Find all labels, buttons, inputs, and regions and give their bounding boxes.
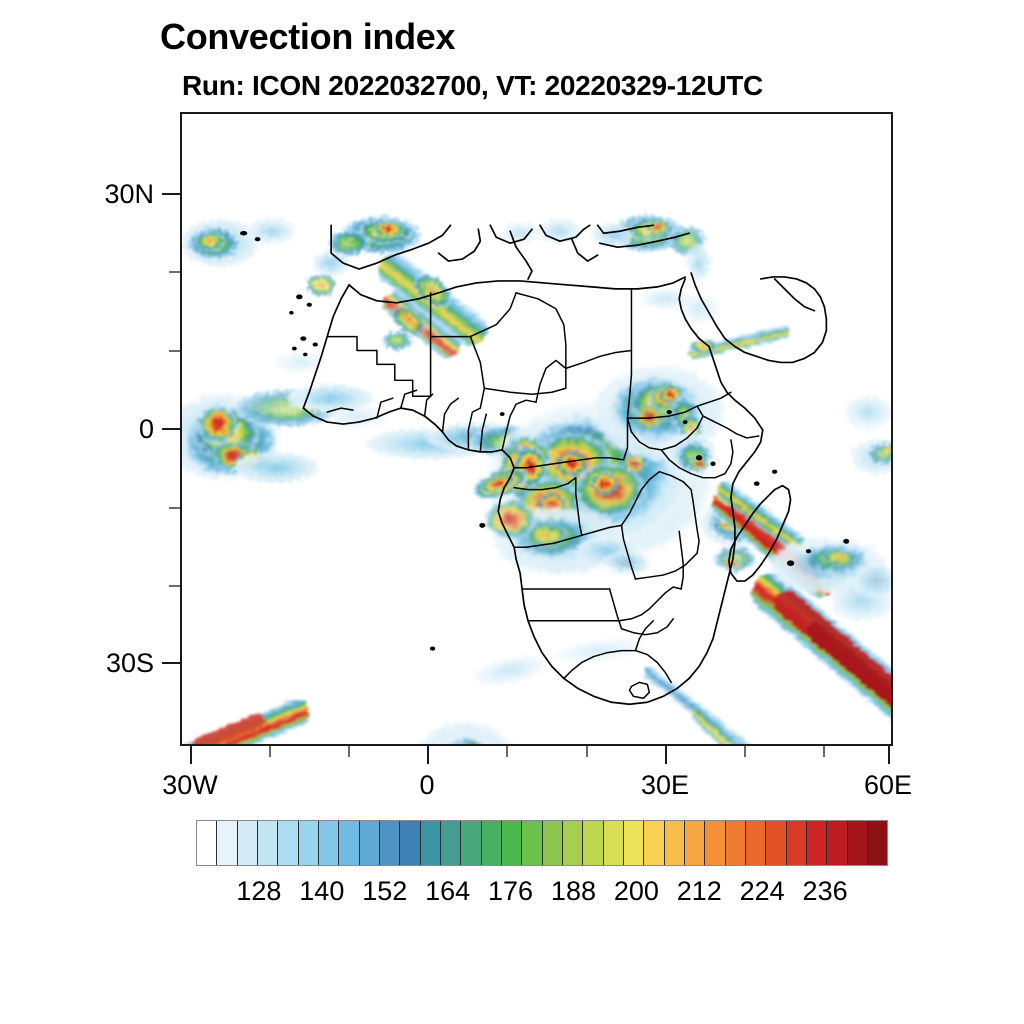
colorbar-cell (197, 821, 217, 865)
colorbar-tick-label: 164 (425, 876, 470, 907)
y-tick-major-30s (162, 662, 180, 664)
colorbar-cells[interactable] (196, 820, 888, 866)
colorbar-cell (644, 821, 664, 865)
x-tick-major-30e (665, 746, 667, 764)
colorbar-cell (380, 821, 400, 865)
colorbar-tick-label: 212 (677, 876, 722, 907)
colorbar-cell (502, 821, 522, 865)
colorbar-cell (441, 821, 461, 865)
x-tick-minor-40e (744, 746, 746, 757)
y-tick-major-30n (162, 193, 180, 195)
y-axis-label-30n: 30N (42, 179, 154, 210)
colorbar-tick-label: 128 (236, 876, 281, 907)
x-tick-minor-10w (348, 746, 350, 757)
x-axis-label-30w: 30W (130, 770, 250, 801)
colorbar-cell (482, 821, 502, 865)
page-title: Convection index (160, 16, 455, 58)
colorbar-cell (685, 821, 705, 865)
x-axis-label-60e: 60E (828, 770, 948, 801)
colorbar-tick-label: 200 (614, 876, 659, 907)
colorbar-cell (583, 821, 603, 865)
colorbar-tick-label: 176 (488, 876, 533, 907)
colorbar-cell (868, 821, 887, 865)
x-axis-label-0: 0 (367, 770, 487, 801)
x-tick-minor-50e (823, 746, 825, 757)
y-tick-minor-20n (169, 271, 180, 273)
coastlines-and-borders (182, 114, 891, 744)
colorbar-cell (848, 821, 868, 865)
x-tick-major-0 (427, 746, 429, 764)
colorbar-cell (543, 821, 563, 865)
x-axis-label-30e: 30E (605, 770, 725, 801)
colorbar-cell (746, 821, 766, 865)
colorbar-cell (319, 821, 339, 865)
colorbar-cell (827, 821, 847, 865)
colorbar-cell (360, 821, 380, 865)
y-tick-minor-20s (169, 585, 180, 587)
run-valid-time-subtitle: Run: ICON 2022032700, VT: 20220329-12UTC (182, 70, 763, 102)
colorbar-tick-label: 236 (803, 876, 848, 907)
colorbar-cell (299, 821, 319, 865)
colorbar-cell (766, 821, 786, 865)
x-tick-minor-20e (586, 746, 588, 757)
colorbar-cell (400, 821, 420, 865)
colorbar-cell (522, 821, 542, 865)
colorbar-cell (665, 821, 685, 865)
colorbar-cell (238, 821, 258, 865)
colorbar-tick-label: 188 (551, 876, 596, 907)
x-tick-major-60e (888, 746, 890, 764)
colorbar-cell (726, 821, 746, 865)
colorbar-tick-label: 140 (299, 876, 344, 907)
colorbar-cell (421, 821, 441, 865)
colorbar-cell (807, 821, 827, 865)
colorbar-cell (258, 821, 278, 865)
y-axis-label-0: 0 (42, 414, 154, 445)
colorbar-cell (705, 821, 725, 865)
x-tick-minor-10e (506, 746, 508, 757)
colorbar-cell (604, 821, 624, 865)
y-tick-minor-10s (169, 507, 180, 509)
colorbar-tick-label: 224 (740, 876, 785, 907)
colorbar-cell (339, 821, 359, 865)
colorbar-cell (278, 821, 298, 865)
colorbar-cell (624, 821, 644, 865)
map-plot-area[interactable] (180, 112, 893, 746)
y-tick-major-0 (162, 428, 180, 430)
x-tick-minor-20w (269, 746, 271, 757)
x-tick-major-30w (190, 746, 192, 764)
convection-index-figure: Convection index Run: ICON 2022032700, V… (0, 0, 1024, 1024)
y-tick-minor-10n (169, 350, 180, 352)
colorbar[interactable] (196, 820, 888, 866)
colorbar-cell (563, 821, 583, 865)
colorbar-cell (461, 821, 481, 865)
colorbar-cell (217, 821, 237, 865)
y-axis-label-30s: 30S (42, 648, 154, 679)
colorbar-cell (787, 821, 807, 865)
colorbar-tick-label: 152 (362, 876, 407, 907)
